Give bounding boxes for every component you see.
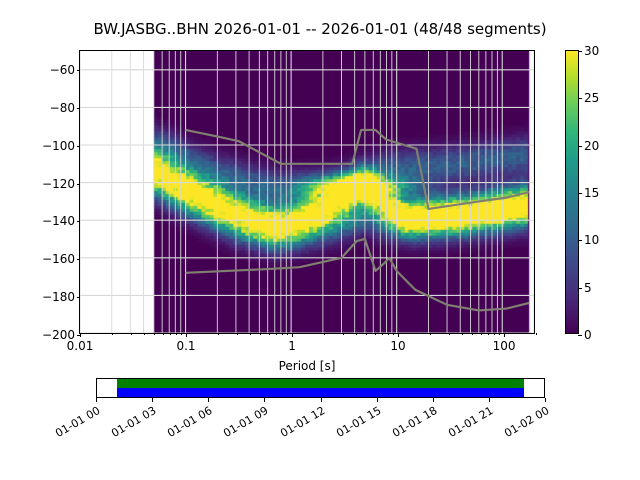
x-tick-mark — [494, 333, 495, 335]
x-tick-mark — [375, 333, 376, 335]
data-coverage-timeline[interactable] — [96, 378, 545, 398]
x-tick-mark — [499, 333, 500, 335]
colorbar-tick-label: 15 — [584, 186, 599, 200]
y-tick-mark — [77, 184, 81, 185]
x-tick-mark — [131, 333, 132, 335]
x-tick-mark — [292, 333, 293, 337]
x-tick-mark — [80, 333, 81, 337]
timeline-clip — [97, 379, 544, 397]
data-coverage-blue — [117, 388, 524, 397]
x-tick-label: 1 — [288, 339, 296, 353]
x-tick-mark — [398, 333, 399, 337]
x-tick-mark — [269, 333, 270, 335]
timeline-tick-mark — [208, 398, 209, 402]
x-tick-mark — [181, 333, 182, 335]
timeline-tick-label: 01-01 18 — [372, 404, 439, 450]
colorbar-tick-label: 5 — [584, 281, 592, 295]
x-tick-mark — [324, 333, 325, 335]
x-tick-mark — [393, 333, 394, 335]
colorbar-tick-label: 30 — [584, 44, 599, 58]
x-tick-mark — [449, 333, 450, 335]
x-tick-mark — [481, 333, 482, 335]
x-tick-mark — [472, 333, 473, 335]
x-tick-mark — [237, 333, 238, 335]
plot-title: BW.JASBG..BHN 2026-01-01 -- 2026-01-01 (… — [0, 20, 640, 38]
y-tick-label: −160 — [42, 252, 75, 266]
ppsd-axes[interactable]: −60−80−100−120−140−160−180−200 0.010.111… — [79, 50, 535, 334]
x-tick-mark — [356, 333, 357, 335]
colorbar-tick-mark — [578, 146, 582, 147]
x-tick-label: 100 — [493, 339, 516, 353]
x-axis-label: Period [s] — [80, 359, 534, 373]
y-tick-label: −180 — [42, 290, 75, 304]
x-tick-mark — [388, 333, 389, 335]
colorbar-tick-mark — [578, 51, 582, 52]
colorbar[interactable]: 051015202530 — [565, 50, 579, 334]
x-tick-mark — [163, 333, 164, 335]
timeline-tick-mark — [489, 398, 490, 402]
timeline-tick-mark — [96, 398, 97, 402]
x-tick-mark — [112, 333, 113, 335]
data-coverage-green — [117, 379, 524, 388]
x-tick-mark — [488, 333, 489, 335]
colorbar-tick-mark — [578, 288, 582, 289]
timeline-tick-label: 01-02 00 — [484, 404, 551, 450]
timeline-tick-label: 01-01 15 — [316, 404, 383, 450]
colorbar-label: [%] — [615, 0, 631, 50]
y-tick-mark — [77, 146, 81, 147]
peterson-noise-models — [80, 51, 534, 333]
x-tick-mark — [504, 333, 505, 337]
y-tick-mark — [77, 259, 81, 260]
timeline-tick-mark — [264, 398, 265, 402]
colorbar-tick-label: 10 — [584, 233, 599, 247]
x-tick-mark — [186, 333, 187, 337]
colorbar-tick-label: 0 — [584, 328, 592, 342]
y-tick-mark — [77, 70, 81, 71]
y-tick-label: −140 — [42, 214, 75, 228]
timeline-tick-label: 01-01 21 — [428, 404, 495, 450]
x-tick-mark — [176, 333, 177, 335]
timeline-tick-mark — [545, 398, 546, 402]
colorbar-tick-label: 25 — [584, 91, 599, 105]
timeline-tick-label: 01-01 12 — [260, 404, 327, 450]
x-tick-mark — [366, 333, 367, 335]
colorbar-tick-mark — [578, 335, 582, 336]
x-tick-mark — [276, 333, 277, 335]
y-tick-mark — [77, 297, 81, 298]
x-tick-mark — [154, 333, 155, 335]
x-tick-mark — [260, 333, 261, 335]
ppsd-figure: BW.JASBG..BHN 2026-01-01 -- 2026-01-01 (… — [0, 0, 640, 480]
timeline-tick-mark — [152, 398, 153, 402]
timeline-tick-label: 01-01 06 — [148, 404, 215, 450]
axes-clip — [80, 51, 534, 333]
y-tick-label: −120 — [42, 177, 75, 191]
colorbar-tick-label: 20 — [584, 139, 599, 153]
x-tick-mark — [287, 333, 288, 335]
noise-model-line — [186, 130, 530, 209]
x-tick-mark — [430, 333, 431, 335]
x-tick-mark — [462, 333, 463, 335]
x-tick-mark — [282, 333, 283, 335]
y-tick-label: −80 — [50, 101, 75, 115]
x-tick-mark — [170, 333, 171, 335]
x-tick-mark — [536, 333, 537, 335]
timeline-tick-label: 01-01 03 — [92, 404, 159, 450]
timeline-tick-label: 01-01 09 — [204, 404, 271, 450]
y-tick-label: −100 — [42, 139, 75, 153]
y-tick-label: −60 — [50, 63, 75, 77]
x-tick-mark — [218, 333, 219, 335]
y-tick-mark — [77, 221, 81, 222]
colorbar-tick-mark — [578, 193, 582, 194]
colorbar-tick-mark — [578, 240, 582, 241]
x-tick-mark — [343, 333, 344, 335]
x-tick-mark — [144, 333, 145, 335]
y-tick-mark — [77, 108, 81, 109]
x-tick-label: 0.1 — [176, 339, 195, 353]
colorbar-tick-mark — [578, 98, 582, 99]
x-tick-mark — [382, 333, 383, 335]
timeline-tick-mark — [433, 398, 434, 402]
x-tick-label: 0.01 — [67, 339, 94, 353]
timeline-tick-mark — [321, 398, 322, 402]
noise-model-line — [186, 239, 530, 310]
timeline-tick-label: 01-01 00 — [35, 404, 102, 450]
x-tick-label: 10 — [390, 339, 405, 353]
timeline-tick-mark — [377, 398, 378, 402]
x-tick-mark — [250, 333, 251, 335]
